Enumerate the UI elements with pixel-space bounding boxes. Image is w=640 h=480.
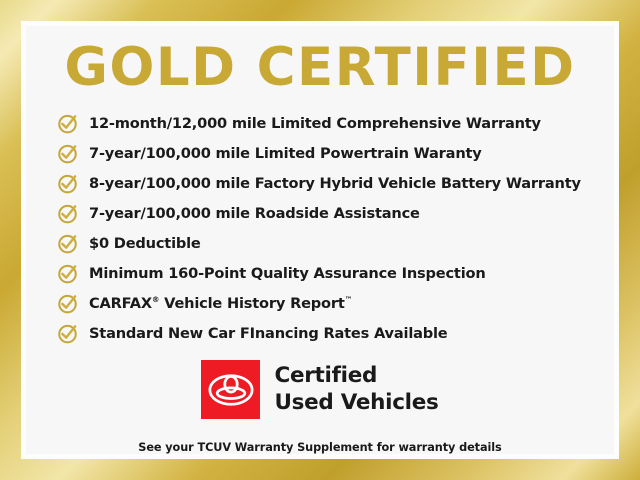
brand-line-2: Used Vehicles <box>274 390 438 416</box>
benefits-list: 12-month/12,000 mile Limited Comprehensi… <box>26 95 614 348</box>
toyota-wordmark: Certified Used Vehicles <box>274 363 438 415</box>
list-item: 7-year/100,000 mile Roadside Assistance <box>56 198 614 228</box>
check-circle-icon <box>56 172 79 195</box>
warranty-disclaimer: See your TCUV Warranty Supplement for wa… <box>26 419 614 454</box>
list-item: CARFAX® Vehicle History Report™ <box>56 288 614 318</box>
list-item-label: $0 Deductible <box>89 235 201 252</box>
list-item-label: 7-year/100,000 mile Roadside Assistance <box>89 205 420 222</box>
check-circle-icon <box>56 202 79 225</box>
list-item: 12-month/12,000 mile Limited Comprehensi… <box>56 108 614 138</box>
list-item: 8-year/100,000 mile Factory Hybrid Vehic… <box>56 168 614 198</box>
page-title: GOLD CERTIFIED <box>26 26 614 95</box>
list-item: Standard New Car FInancing Rates Availab… <box>56 318 614 348</box>
check-circle-icon <box>56 232 79 255</box>
list-item-label: 7-year/100,000 mile Limited Powertrain W… <box>89 145 482 162</box>
toyota-logo-tile <box>201 360 260 419</box>
trademark-mark-icon: ™ <box>345 295 352 304</box>
check-circle-icon <box>56 142 79 165</box>
list-item-label: Minimum 160-Point Quality Assurance Insp… <box>89 265 486 282</box>
list-item: 7-year/100,000 mile Limited Powertrain W… <box>56 138 614 168</box>
list-item-label: 12-month/12,000 mile Limited Comprehensi… <box>89 115 541 132</box>
check-circle-icon <box>56 112 79 135</box>
gold-certified-certificate: GOLD CERTIFIED 12-month/12,000 mile Limi… <box>0 0 640 480</box>
list-item-label: Standard New Car FInancing Rates Availab… <box>89 325 448 342</box>
check-circle-icon <box>56 262 79 285</box>
list-item-label: 8-year/100,000 mile Factory Hybrid Vehic… <box>89 175 581 192</box>
list-item: Minimum 160-Point Quality Assurance Insp… <box>56 258 614 288</box>
toyota-certified-used-vehicles-lockup: Certified Used Vehicles <box>26 360 614 419</box>
toyota-emblem-icon <box>208 374 254 406</box>
carfax-report-label: Vehicle History Report <box>159 295 344 312</box>
list-item-label: CARFAX® Vehicle History Report™ <box>89 295 352 312</box>
certificate-inner-panel: GOLD CERTIFIED 12-month/12,000 mile Limi… <box>26 26 614 454</box>
list-item: $0 Deductible <box>56 228 614 258</box>
brand-line-1: Certified <box>274 363 438 389</box>
check-circle-icon <box>56 322 79 345</box>
check-circle-icon <box>56 292 79 315</box>
carfax-wordmark: CARFAX <box>89 295 152 312</box>
